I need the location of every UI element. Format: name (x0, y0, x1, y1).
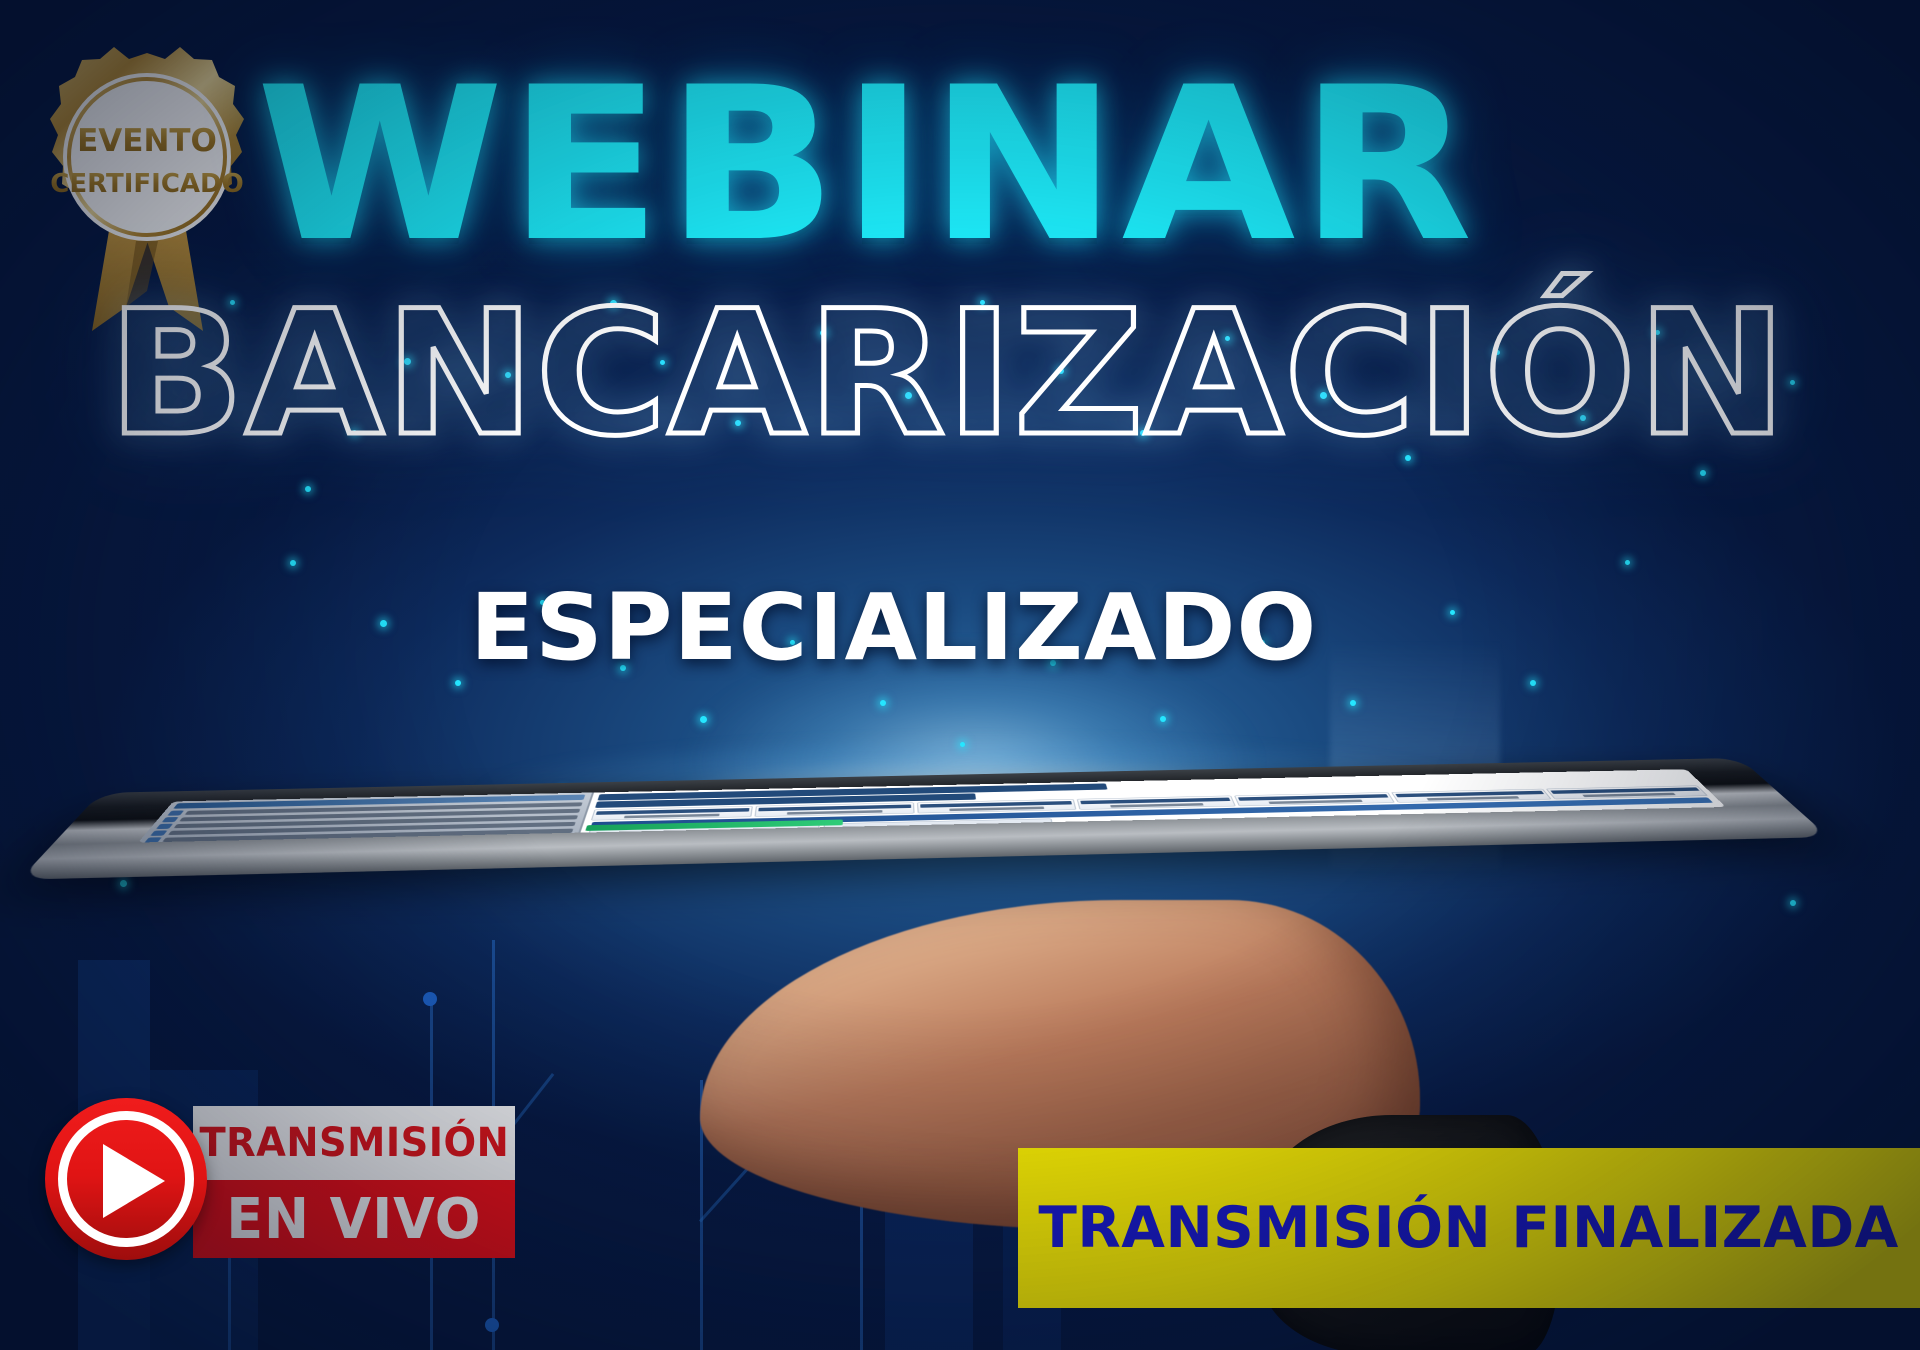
particle (880, 700, 886, 706)
live-badge-line1: TRANSMISIÓN (199, 1120, 509, 1166)
particle (455, 680, 461, 686)
live-badge-line2: EN VIVO (226, 1187, 481, 1252)
headline-especializado: ESPECIALIZADO (470, 582, 1592, 674)
bg-node-3 (485, 1318, 499, 1332)
status-banner-text: TRANSMISIÓN FINALIZADA (1039, 1195, 1900, 1261)
headline-webinar: WEBINAR (256, 72, 1676, 262)
live-badge-bottom-bar: EN VIVO (193, 1180, 515, 1258)
list-icon (144, 837, 162, 842)
list-icon (167, 810, 184, 815)
particle (1530, 680, 1536, 686)
particle (1625, 560, 1630, 565)
particle (290, 560, 296, 566)
poster-canvas: EVENTO CERTIFICADO WEBINAR BANCARIZACIÓN… (0, 0, 1920, 1350)
bg-node-1 (423, 992, 437, 1006)
particle (1790, 900, 1796, 906)
tablet-device (118, 775, 1758, 935)
list-icon (156, 824, 173, 829)
particle (1160, 716, 1166, 722)
particle (305, 486, 311, 492)
badge-line1: EVENTO (77, 123, 217, 159)
particle (1350, 700, 1356, 706)
particle (380, 620, 387, 627)
particle (700, 716, 707, 723)
list-icon (162, 817, 179, 822)
badge-line2: CERTIFICADO (50, 169, 243, 199)
particle (1790, 380, 1795, 385)
status-banner-finalizada: TRANSMISIÓN FINALIZADA (1018, 1148, 1920, 1308)
headline-bancarizacion: BANCARIZACIÓN (108, 288, 1730, 468)
live-badge-top-bar: TRANSMISIÓN (193, 1106, 515, 1180)
play-triangle-icon (103, 1144, 165, 1218)
particle (960, 742, 965, 747)
list-icon (150, 830, 167, 836)
play-button[interactable] (45, 1098, 207, 1260)
live-transmission-badge[interactable]: TRANSMISIÓN EN VIVO (45, 1090, 515, 1270)
